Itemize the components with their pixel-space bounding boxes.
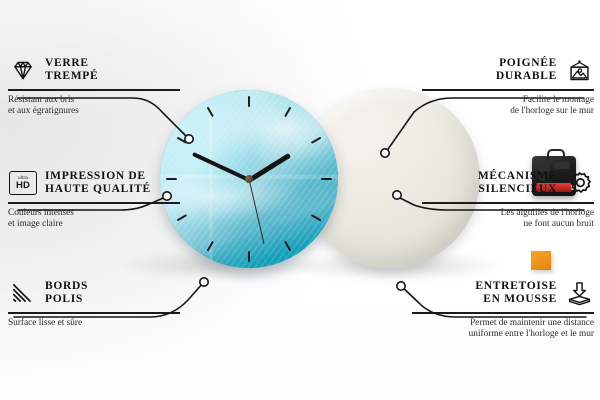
callout-title: POIGNÉE DURABLE [496,57,557,84]
callout-description: Couleurs intenses et image claire [8,208,180,231]
hd-badge-large-label: HD [16,181,30,191]
infographic-canvas: VERRE TREMPÉ Résistant aux bris et aux é… [0,0,600,400]
callout-title: VERRE TREMPÉ [45,57,98,84]
callout-mecanisme-silencieux: MÉCANISME SILENCIEUX Les aiguilles de l'… [422,168,594,230]
callout-divider [8,89,180,91]
callout-title: ENTRETOISE EN MOUSSE [475,280,557,307]
callout-header: BORDS POLIS [8,278,180,308]
callout-title: MÉCANISME SILENCIEUX [478,170,557,197]
callout-title: IMPRESSION DE HAUTE QUALITÉ [45,170,151,197]
callout-header: POIGNÉE DURABLE [422,55,594,85]
callout-description: Permet de maintenir une distance uniform… [412,318,594,341]
picture-hanger-icon [564,55,594,85]
callout-description: Résistant aux bris et aux égratignures [8,95,180,118]
callout-entretoise-en-mousse: ENTRETOISE EN MOUSSE Permet de maintenir… [412,278,594,340]
callout-bords-polis: BORDS POLIS Surface lisse et sûre [8,278,180,329]
callout-divider [8,312,180,314]
callout-description: Les aiguilles de l'horloge ne font aucun… [422,208,594,231]
callout-header: ultra HD IMPRESSION DE HAUTE QUALITÉ [8,168,180,198]
callout-divider [422,202,594,204]
gear-icon [564,168,594,198]
callout-poignee-durable: POIGNÉE DURABLE Facilite le montage de l… [422,55,594,117]
callout-description: Facilite le montage de l'horloge sur le … [422,95,594,118]
connector-endpoint-verre-trempe [185,135,193,143]
connector-endpoint-entretoise [397,282,405,290]
callout-divider [412,312,594,314]
ultra-hd-badge-icon: ultra HD [8,168,38,198]
callout-header: VERRE TREMPÉ [8,55,180,85]
polished-edges-icon [8,278,38,308]
callout-header: MÉCANISME SILENCIEUX [422,168,594,198]
foam-spacer-icon [564,278,594,308]
connector-endpoint-mecanisme [393,191,401,199]
connector-endpoint-bords-polis [200,278,208,286]
callout-divider [8,202,180,204]
callout-title: BORDS POLIS [45,280,88,307]
diamond-icon [8,55,38,85]
callout-impression-haute-qualite: ultra HD IMPRESSION DE HAUTE QUALITÉ Cou… [8,168,180,230]
connector-endpoint-poignee-durable [381,149,389,157]
callout-header: ENTRETOISE EN MOUSSE [412,278,594,308]
callout-divider [422,89,594,91]
callout-description: Surface lisse et sûre [8,318,180,329]
callout-verre-trempe: VERRE TREMPÉ Résistant aux bris et aux é… [8,55,180,117]
